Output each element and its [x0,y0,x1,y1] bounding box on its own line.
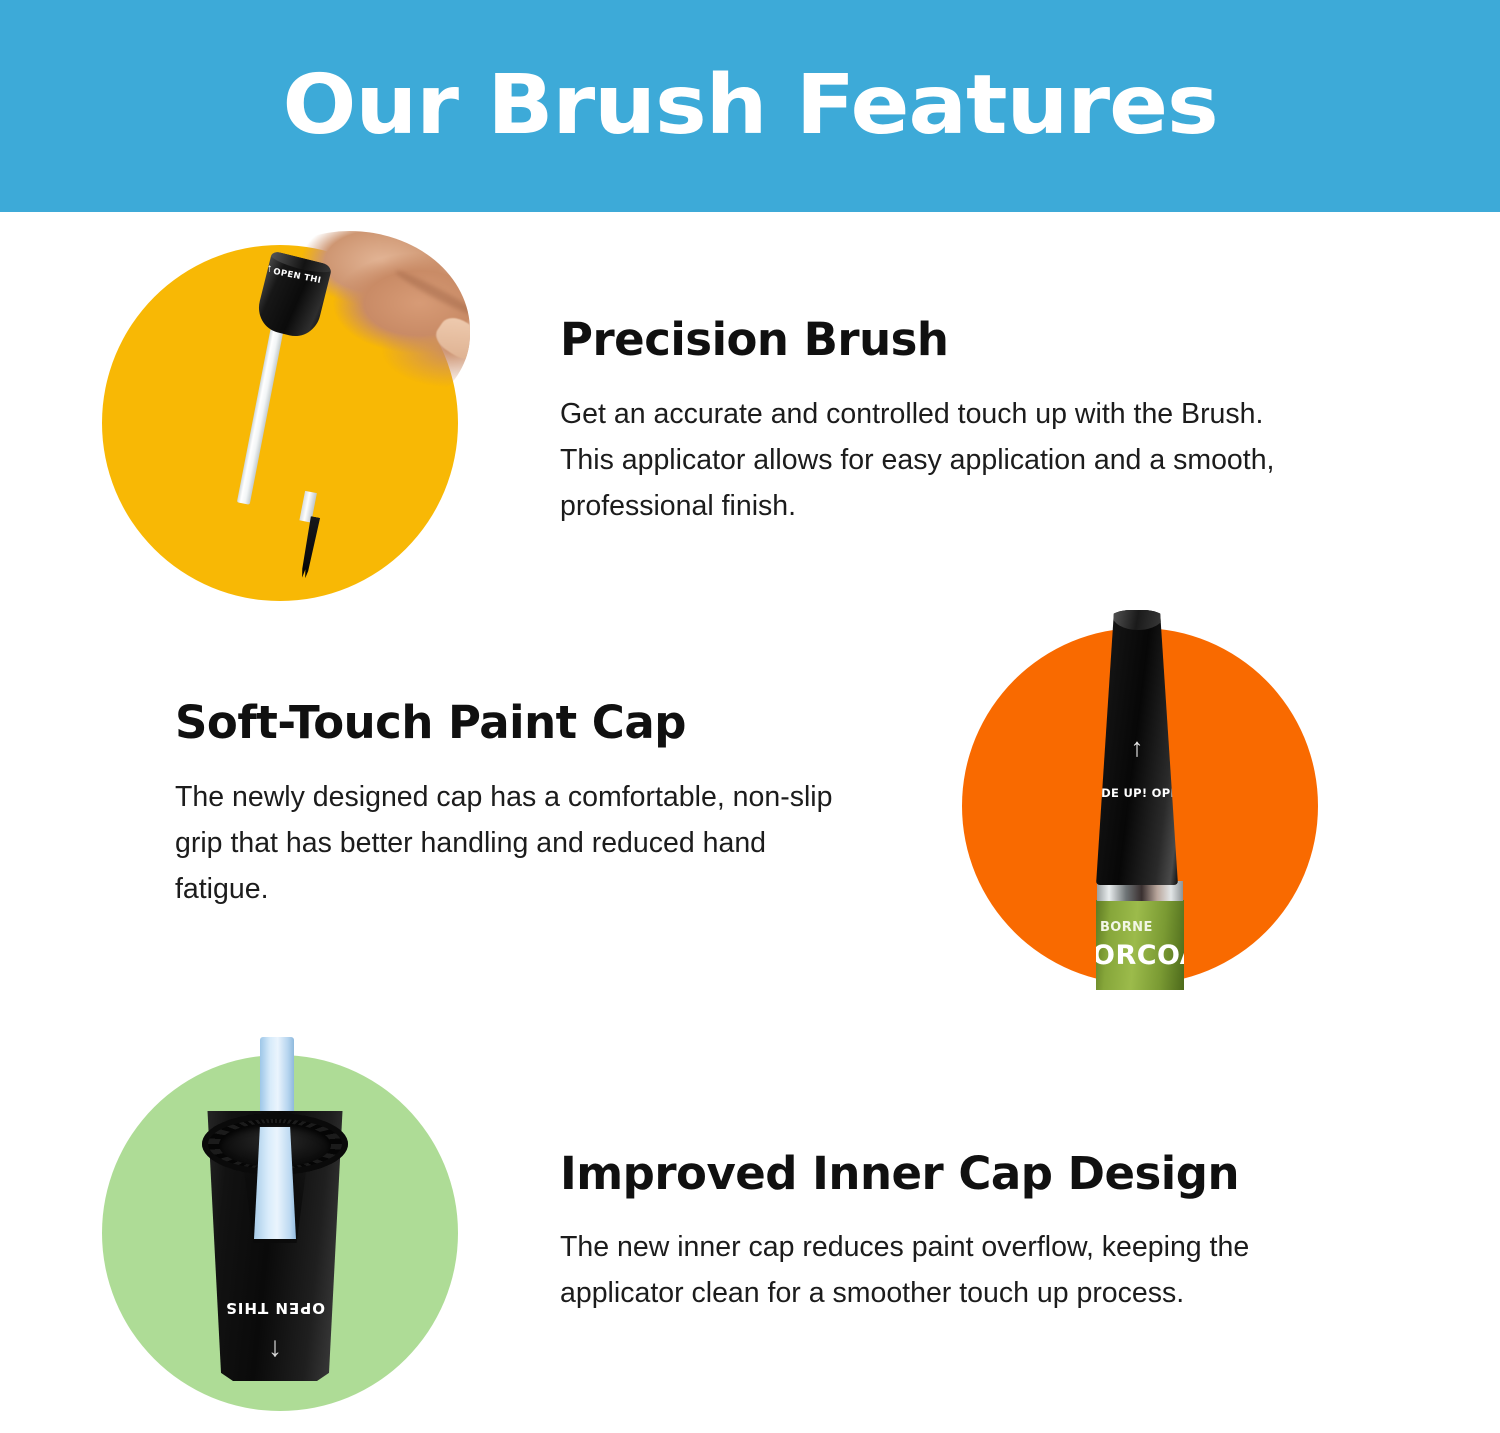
feature-section-precision-brush: ↑ OPEN THI Precision Brush Get an accura… [0,245,1420,601]
cap-down-arrow-icon: ↓ [268,1333,282,1361]
bottle-label-line-2: ORCOAT [1096,940,1184,971]
feature-image-cell: OPEN THIS ↓ [0,1055,560,1411]
feature-body-precision-brush: Get an accurate and controlled touch up … [560,391,1320,529]
cap-label-text: OPEN THIS [225,1299,325,1317]
feature-section-soft-touch-paint-cap: Soft-Touch Paint Cap The newly designed … [0,628,1420,984]
bottle-label-line-1: BORNE [1100,920,1153,935]
blue-applicator-stem-lower [254,1127,296,1239]
soft-touch-cap: ↑ SIDE UP! OPEN TH [1096,610,1178,885]
paint-pen-graphic: BORNE ORCOAT ↑ SIDE UP! OPEN TH [962,628,1318,984]
finger-crease [393,267,470,321]
feature-title-improved-inner-cap-design: Improved Inner Cap Design [560,1150,1380,1199]
black-tapered-cap-on-green-bottle-photo: BORNE ORCOAT ↑ SIDE UP! OPEN TH [962,628,1318,984]
cap-label-text: SIDE UP! OPEN TH [1096,786,1178,800]
feature-section-improved-inner-cap-design: OPEN THIS ↓ Improved Inner Cap Design Th… [0,1055,1420,1411]
feature-text-cell: Precision Brush Get an accurate and cont… [560,316,1420,529]
feature-body-improved-inner-cap-design: The new inner cap reduces paint overflow… [560,1224,1320,1316]
feature-title-precision-brush: Precision Brush [560,316,1380,365]
feature-title-soft-touch-paint-cap: Soft-Touch Paint Cap [175,699,840,748]
cap-dome-top [1112,610,1164,630]
fingernail [431,311,470,368]
feature-image-cell: ↑ OPEN THI [0,245,560,601]
feature-image-cell: BORNE ORCOAT ↑ SIDE UP! OPEN TH [860,628,1420,984]
feature-body-soft-touch-paint-cap: The newly designed cap has a comfortable… [175,774,840,912]
cap-up-arrow-icon: ↑ [1131,734,1144,760]
inverted-cap-inner-seal-photo: OPEN THIS ↓ [102,1055,458,1411]
green-paint-bottle: BORNE ORCOAT [1096,900,1184,990]
cap-up-arrow-icon: ↑ [267,264,273,275]
page-title: Our Brush Features [282,65,1217,147]
page-header-banner: Our Brush Features [0,0,1500,212]
feature-text-cell: Improved Inner Cap Design The new inner … [560,1150,1420,1317]
feature-text-cell: Soft-Touch Paint Cap The newly designed … [0,699,860,912]
hand-holding-brush-applicator-photo: ↑ OPEN THI [102,245,458,601]
